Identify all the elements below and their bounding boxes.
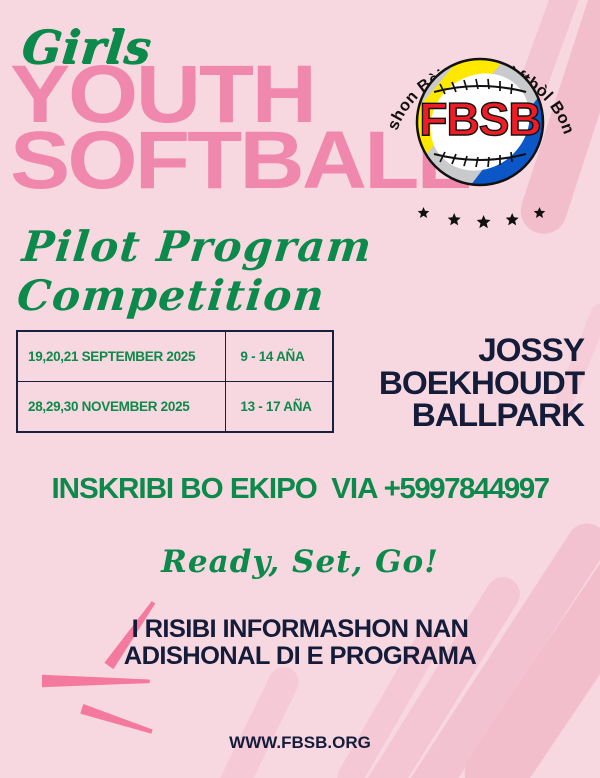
fbsb-logo-icon: Federashon Bèisbòl i Sòftbòl Boneriano	[372, 22, 588, 238]
table-row: 28,29,30 NOVEMBER 2025 13 - 17 AÑA	[17, 382, 333, 433]
register-line: INSKRIBI BO EKIPO VIA +5997844997	[0, 473, 600, 506]
schedule-dates: 19,20,21 SEPTEMBER 2025	[17, 331, 226, 382]
schedule-dates: 28,29,30 NOVEMBER 2025	[17, 382, 226, 433]
logo-stars	[418, 207, 546, 228]
footer-website[interactable]: WWW.FBSB.ORG	[0, 733, 600, 753]
venue-name: JOSSY BOEKHOUDT BALLPARK	[293, 334, 584, 432]
register-label: INSKRIBI BO EKIPO	[51, 473, 316, 505]
table-row: 19,20,21 SEPTEMBER 2025 9 - 14 AÑA	[17, 331, 333, 382]
register-phone[interactable]: +5997844997	[384, 473, 549, 505]
info-block: I RISIBI INFORMASHON NAN ADISHONAL DI E …	[0, 616, 600, 669]
info-line-1: I RISIBI INFORMASHON NAN	[0, 616, 600, 643]
page-title: YOUTH SOFTBALL	[10, 62, 427, 193]
headline-script-top: Girls	[19, 20, 154, 74]
burst-ray	[42, 668, 150, 694]
logo-monogram: FBSB	[419, 93, 540, 145]
poster-canvas: Girls YOUTH SOFTBALL Pilot Program Compe…	[0, 0, 600, 778]
register-via-label: VIA	[331, 473, 376, 505]
schedule-table: 19,20,21 SEPTEMBER 2025 9 - 14 AÑA 28,29…	[16, 330, 334, 433]
fbsb-logo: Federashon Bèisbòl i Sòftbòl Boneriano	[372, 22, 588, 238]
venue-line-2: BOEKHOUDT	[293, 367, 584, 400]
venue-line-3: BALLPARK	[293, 399, 584, 432]
venue-line-1: JOSSY	[293, 334, 584, 367]
tagline: Ready, Set, Go!	[0, 544, 600, 580]
brush-stroke	[202, 662, 303, 778]
info-line-2: ADISHONAL DI E PROGRAMA	[0, 643, 600, 670]
